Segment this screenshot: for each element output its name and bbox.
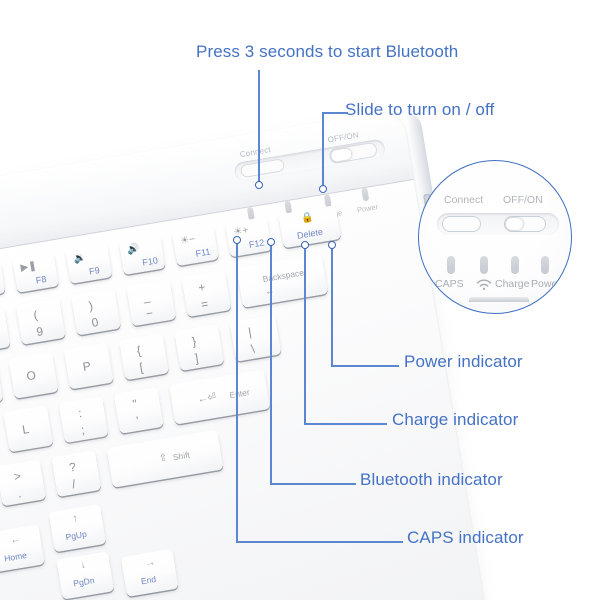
key-9[interactable]: ( 9 [16,298,66,345]
callout-power-indicator-leader-v [331,248,333,366]
callout-power-indicator-label: Power indicator [404,352,523,372]
callout-caps-indicator-leader-v [236,243,238,542]
power-slide-knob[interactable] [331,148,353,162]
key-o[interactable]: O [9,352,59,399]
key-quote[interactable]: " ' [114,387,164,434]
magnified-power-label: Power [531,278,561,290]
key-f10[interactable]: 🔊 F10 [119,234,166,274]
callout-caps-indicator-leader-h [236,541,403,543]
key-equal[interactable]: + = [181,270,231,317]
key-left-bracket[interactable]: { [ [119,333,169,380]
magnified-led-caps [447,256,455,274]
key-semicolon[interactable]: : ; [59,396,109,443]
callout-bluetooth-indicator-leader-h [270,483,356,485]
callout-bluetooth-pair-leader [258,70,260,185]
callout-charge-indicator-dot [301,241,309,249]
magnified-led-bluetooth [480,256,488,274]
magnified-power-slide-knob[interactable] [506,218,523,230]
callout-power-slide-leader-h [322,112,348,114]
callout-power-slide-leader-v [322,112,324,189]
screenshot-canvas: Connect OFF/ON CAPS Charge Power F7 [0,0,600,600]
magnified-led-charge [511,256,519,274]
callout-caps-indicator-label: CAPS indicator [407,528,524,548]
callout-power-indicator-dot [328,241,336,249]
magnified-caps-label: CAPS [435,278,464,290]
callout-power-slide-label: Slide to turn on / off [345,100,494,120]
key-f11[interactable]: ☀− F11 [172,226,219,266]
magnified-led-power [541,256,549,274]
magnified-keyboard-foot [469,297,529,302]
magnified-connect-button[interactable] [442,216,481,232]
callout-power-slide-dot [319,185,327,193]
key-minus[interactable]: _ − [126,280,176,327]
magnified-bluetooth-wave-icon [475,278,493,291]
magnified-power-slide-switch[interactable] [504,216,546,232]
callout-bluetooth-pair-dot [255,181,263,189]
magnified-connect-label: Connect [444,194,483,206]
magnified-control-panel: Connect OFF/ON CAPS Charge Power [418,160,572,314]
key-period[interactable]: > . [0,459,46,506]
callout-bluetooth-indicator-leader-v [270,245,272,484]
led-power-label: Power [351,201,384,215]
magnified-charge-label: Charge [495,278,529,290]
key-f8[interactable]: ▶❚ F8 [12,252,59,292]
led-power [361,188,369,202]
key-p[interactable]: P [64,343,114,390]
callout-bluetooth-pair-label: Press 3 seconds to start Bluetooth [196,42,458,62]
callout-bluetooth-indicator-label: Bluetooth indicator [360,470,503,490]
callout-caps-indicator-dot [233,236,241,244]
callout-charge-indicator-leader-v [304,248,306,424]
callout-power-indicator-leader-h [331,365,399,367]
key-f12[interactable]: ☀+ F12 [225,217,272,257]
callout-charge-indicator-leader-h [304,423,387,425]
key-slash[interactable]: ? / [51,450,101,497]
callout-bluetooth-indicator-dot [267,238,275,246]
key-l[interactable]: L [3,406,53,453]
key-right-bracket[interactable]: } ] [174,324,224,371]
key-end[interactable]: → End [121,549,179,597]
magnified-offon-label: OFF/ON [503,194,543,206]
key-f9[interactable]: 🔉 F9 [65,243,112,283]
key-pgup[interactable]: ↑ PgUp [48,504,106,552]
key-0[interactable]: ) 0 [71,289,121,336]
callout-charge-indicator-label: Charge indicator [392,410,518,430]
key-pgdn[interactable]: ↓ PgDn [56,551,114,599]
